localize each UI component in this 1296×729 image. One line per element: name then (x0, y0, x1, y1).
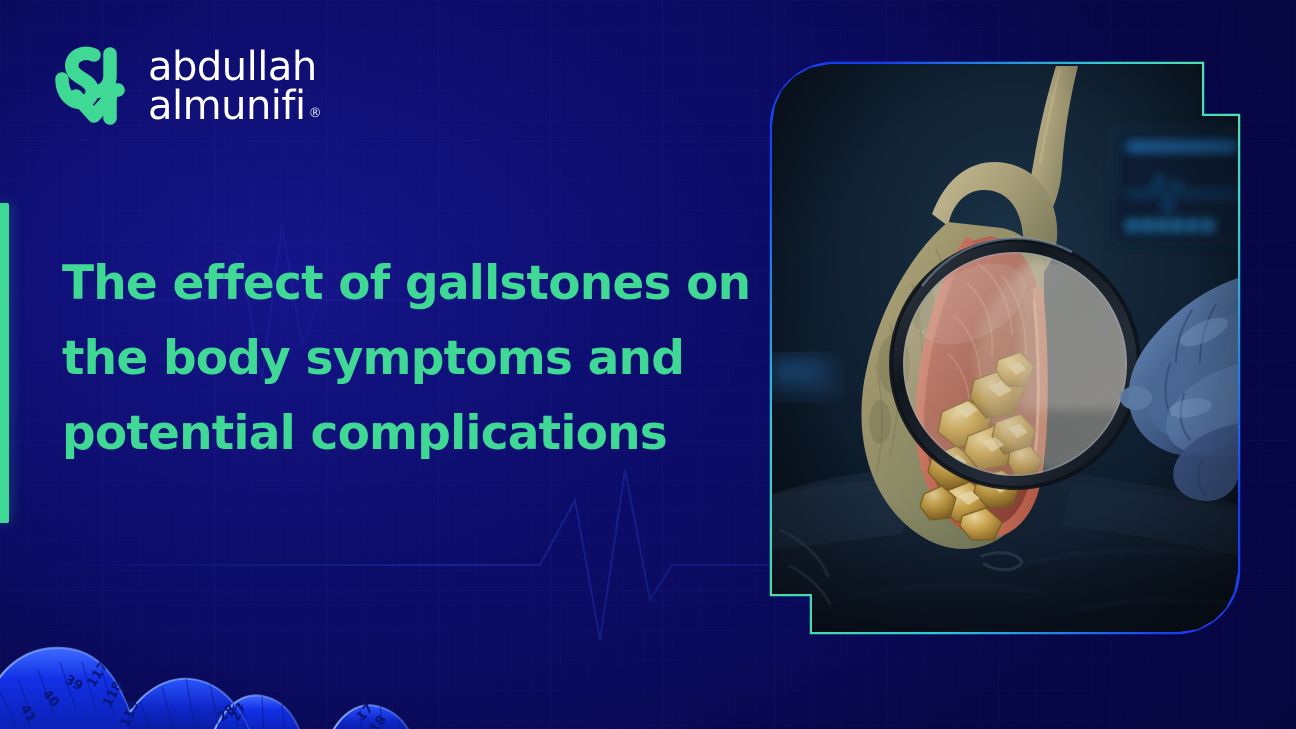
hero-image-panel (766, 58, 1244, 638)
registered-trademark-icon: ® (309, 108, 322, 121)
brand-logo[interactable]: abdullah almunifi ® (48, 46, 321, 128)
hero-image-clip (772, 64, 1238, 632)
brand-wordmark: abdullah almunifi ® (148, 48, 321, 126)
poster-canvas: abdullah almunifi ® The effect of gallst… (0, 0, 1296, 729)
gallbladder-gallstones-photo (772, 64, 1238, 632)
brand-name-line2-row: almunifi ® (148, 87, 321, 126)
left-accent-bar (0, 203, 9, 523)
brand-name-line1: abdullah (148, 48, 321, 87)
page-title: The effect of gallstones on the body sym… (62, 246, 762, 471)
headline-line-2: the body symptoms and (62, 321, 762, 396)
headline-line-3: potential complications (62, 396, 762, 471)
headline-line-1: The effect of gallstones on (62, 246, 762, 321)
almunifi-squiggle-mark-icon (48, 46, 132, 128)
measuring-tape-ribbon-icon: 41 40 39 117 118 119 27 28 17 18 (0, 596, 460, 729)
brand-name-line2: almunifi (148, 87, 306, 126)
